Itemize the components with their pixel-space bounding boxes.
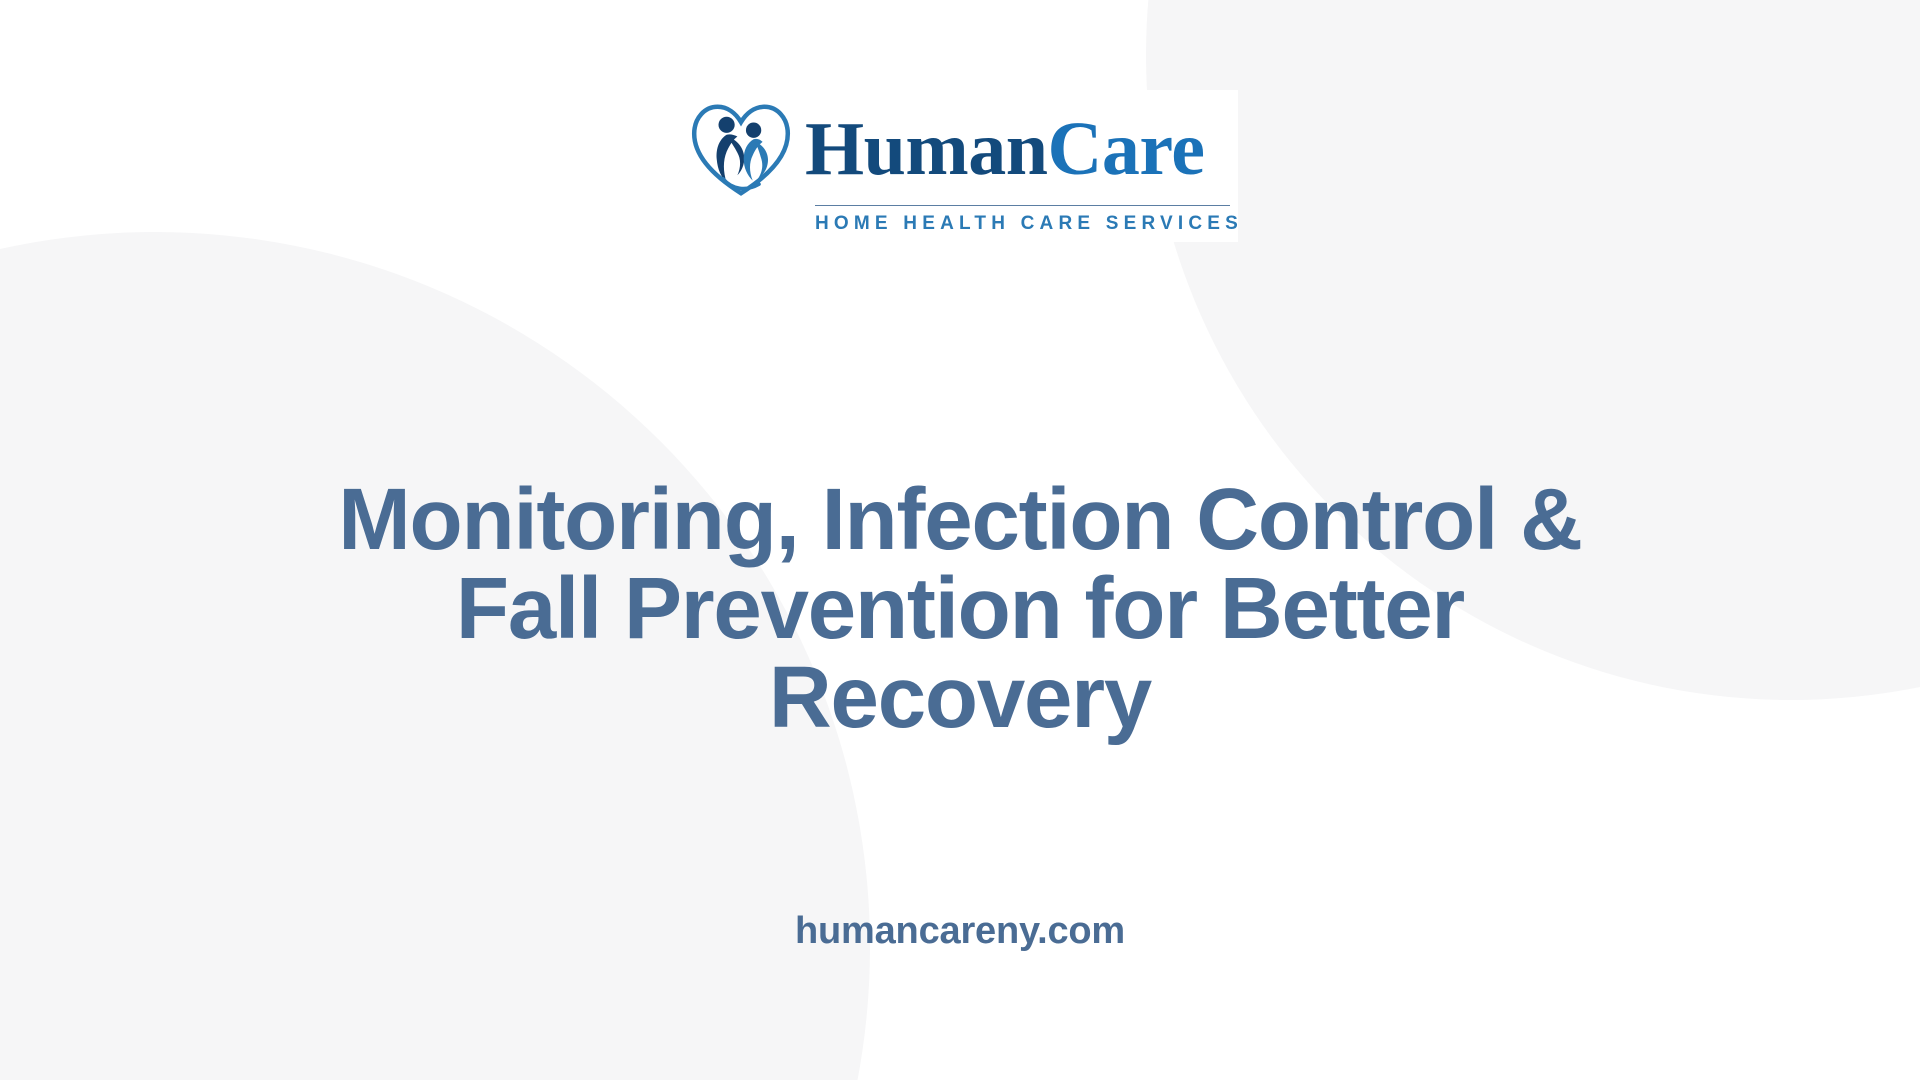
presentation-slide: HumanCare HOME HEALTH CARE SERVICES Moni… <box>0 0 1920 1080</box>
headline-line-1: Monitoring, Infection Control & <box>180 476 1740 565</box>
website-url[interactable]: humancareny.com <box>795 910 1125 953</box>
logo-divider-rule <box>815 205 1230 206</box>
logo-tagline: HOME HEALTH CARE SERVICES <box>815 213 1230 235</box>
logo-word-human: Human <box>805 107 1047 191</box>
headline-line-2: Fall Prevention for Better <box>180 565 1740 654</box>
heart-with-two-figures-icon <box>687 96 795 204</box>
logo-wordmark: HumanCare <box>805 112 1204 186</box>
humancare-logo: HumanCare HOME HEALTH CARE SERVICES <box>681 90 1238 242</box>
page-title: Monitoring, Infection Control & Fall Pre… <box>180 476 1740 742</box>
logo-top-row: HumanCare <box>687 96 1230 204</box>
headline-line-3: Recovery <box>180 654 1740 743</box>
logo-word-care: Care <box>1047 107 1204 191</box>
